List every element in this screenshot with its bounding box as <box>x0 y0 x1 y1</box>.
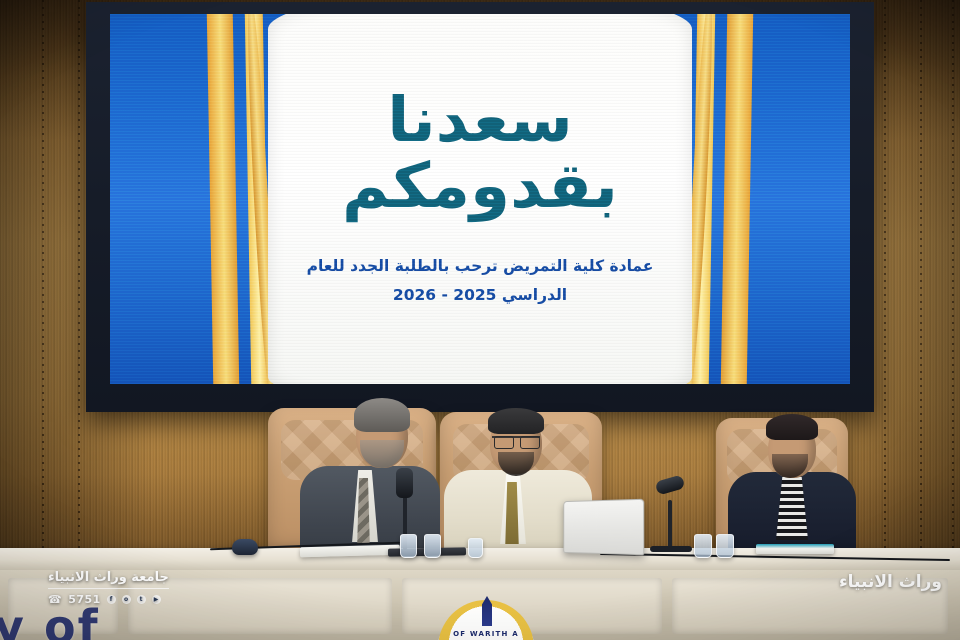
microphone-base <box>650 546 692 552</box>
slide-content: سعدنا بقدومكم عمادة كلية التمريض ترحب با… <box>270 14 690 384</box>
instagram-icon[interactable]: o <box>122 595 131 604</box>
gold-ribbon-right-outer <box>720 14 753 384</box>
water-glass <box>468 538 483 558</box>
slide-subtitle-line1: عمادة كلية التمريض ترحب بالطلبة الجدد لل… <box>307 252 654 281</box>
water-glass <box>424 534 441 558</box>
computer-mouse <box>232 539 258 555</box>
microphone-stand <box>668 500 672 550</box>
microphone-head <box>396 468 413 498</box>
presentation-screen: سعدنا بقدومكم عمادة كلية التمريض ترحب با… <box>110 14 850 384</box>
glasses-lens-left <box>494 436 514 449</box>
laptop <box>563 499 644 556</box>
photo-scene: سعدنا بقدومكم عمادة كلية التمريض ترحب با… <box>0 0 960 640</box>
banner-big-letters: y of <box>0 600 100 640</box>
university-seal: OF WARITH A <box>438 600 534 640</box>
gold-ribbon-left-outer <box>206 14 239 384</box>
person-left-hair <box>354 398 410 432</box>
water-glass <box>716 534 734 558</box>
youtube-icon[interactable]: ▶ <box>152 595 161 604</box>
facebook-icon[interactable]: f <box>107 595 116 604</box>
slide-subtitle-line2: الدراسي 2025 - 2026 <box>393 281 567 310</box>
watermark-right-logo: وراث الانبياء <box>839 572 942 592</box>
slide-headline: سعدنا بقدومكم <box>262 87 699 217</box>
person-right-hair <box>766 414 818 440</box>
university-name: جامعة وراث الانبياء <box>48 570 169 585</box>
glasses-lens-right <box>520 436 540 449</box>
notebook <box>756 544 834 554</box>
water-glass <box>400 534 417 558</box>
seal-label: OF WARITH A <box>438 630 534 638</box>
water-glass <box>694 534 712 558</box>
person-center-hair <box>488 408 544 434</box>
presentation-screen-frame: سعدنا بقدومكم عمادة كلية التمريض ترحب با… <box>86 2 874 412</box>
telegram-icon[interactable]: t <box>137 595 146 604</box>
watermark-divider <box>48 588 169 589</box>
